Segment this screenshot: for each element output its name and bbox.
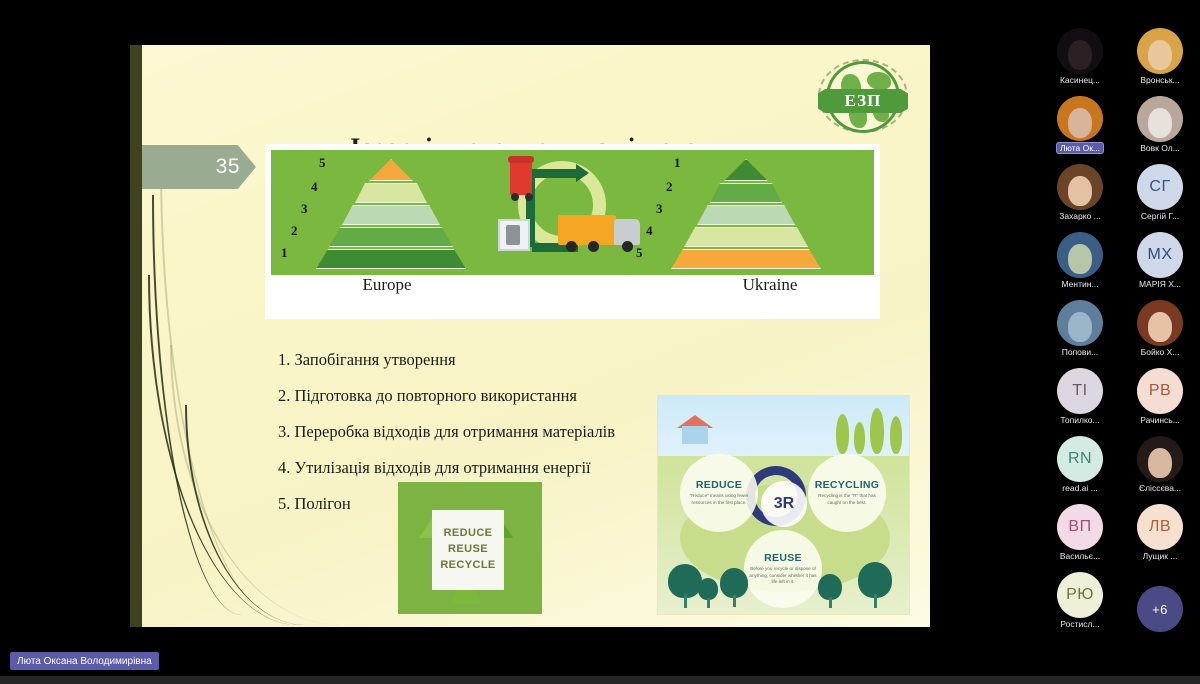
overflow-avatar[interactable]: +6 (1137, 586, 1183, 632)
participant-tile[interactable]: Вовк Ол... (1120, 96, 1200, 154)
slide-left-accent-bar (130, 45, 142, 627)
reduce-description: "Reduce" means using fewer resources in … (684, 493, 754, 507)
participant-name: Вовк Ол... (1140, 143, 1180, 153)
participant-tile[interactable]: Бойко Х... (1120, 300, 1200, 358)
participant-tile[interactable]: Люта Ок... (1040, 96, 1120, 154)
europe-level-label: 4 (311, 179, 318, 195)
participant-tile[interactable]: СГСергій Г... (1120, 164, 1200, 222)
participant-name: read.ai ... (1062, 483, 1097, 493)
recycling-description: Recycling is the "R" that has caught on … (812, 493, 882, 507)
tree-icon (870, 408, 884, 454)
avatar-face (1068, 312, 1092, 342)
photo-avatar[interactable] (1137, 436, 1183, 482)
red-bin-icon (510, 161, 532, 195)
participant-tile[interactable]: Вронськ... (1120, 28, 1200, 86)
europe-level-label: 1 (281, 245, 288, 261)
participant-tile[interactable]: РВРачинсь... (1120, 368, 1200, 426)
europe-caption: Europe (287, 275, 487, 295)
initials-avatar[interactable]: МХ (1137, 232, 1183, 278)
recycle-line-1: REDUCE (444, 526, 493, 542)
slide-number-badge: 35 (142, 145, 256, 189)
participant-strip[interactable]: Касинец...Вронськ...Люта Ок...Вовк Ол...… (1040, 0, 1200, 684)
shared-screen-stage[interactable]: 35 Ієрархія поводження з відходами ЕЗП (0, 0, 1040, 684)
participant-grid: Касинец...Вронськ...Люта Ок...Вовк Ол...… (1040, 28, 1200, 630)
house-icon (682, 426, 708, 444)
participant-name: МАРІЯ Х... (1139, 279, 1181, 289)
participant-name: Захарко ... (1059, 211, 1100, 221)
window-bottom-bar (0, 676, 1200, 684)
ukraine-level-label: 1 (674, 155, 681, 171)
participant-tile[interactable]: Попови... (1040, 300, 1120, 358)
participant-tile[interactable]: РЮРостисл... (1040, 572, 1120, 630)
avatar-face (1148, 448, 1172, 478)
ukraine-level-label: 3 (656, 201, 663, 217)
avatar-face (1068, 108, 1092, 138)
garbage-truck-icon (558, 215, 616, 245)
avatar-face (1068, 244, 1092, 274)
initials-avatar[interactable]: RN (1057, 436, 1103, 482)
participant-tile[interactable]: Єліссєва... (1120, 436, 1200, 494)
tree-icon (854, 422, 865, 454)
europe-level-label: 5 (319, 155, 326, 171)
reduce-title: REDUCE (696, 479, 742, 491)
participant-name: Топилко... (1060, 415, 1099, 425)
photo-avatar[interactable] (1057, 28, 1103, 74)
participant-name: Вронськ... (1140, 75, 1179, 85)
initials-avatar[interactable]: ЛВ (1137, 504, 1183, 550)
avatar-face (1148, 40, 1172, 70)
presentation-slide[interactable]: 35 Ієрархія поводження з відходами ЕЗП (130, 45, 930, 627)
waste-hierarchy-figure: 5 4 3 2 1 (265, 144, 880, 319)
reuse-blob: REUSE Before you recycle or dispose of a… (744, 530, 822, 608)
europe-level-label: 3 (301, 201, 308, 217)
initials-avatar[interactable]: ТІ (1057, 368, 1103, 414)
trash-glyph-icon (506, 225, 520, 245)
ezp-logo-icon: ЕЗП (816, 59, 912, 135)
recycling-title: RECYCLING (815, 479, 880, 491)
photo-avatar[interactable] (1057, 232, 1103, 278)
ukraine-pyramid: 1 2 3 4 5 (656, 157, 836, 269)
participant-name: Рачинсь... (1140, 415, 1180, 425)
overflow-count: +6 (1152, 602, 1168, 617)
bin-lid-icon (508, 156, 534, 163)
reduce-blob: REDUCE "Reduce" means using fewer resour… (680, 454, 758, 532)
recycle-line-3: RECYCLE (440, 558, 495, 574)
tree-icon (836, 414, 849, 454)
ukraine-level-label: 2 (666, 179, 673, 195)
three-r-center-label: 3R (761, 481, 807, 527)
active-speaker-name: Люта Оксана Володимирівна (17, 656, 152, 667)
participant-overflow-tile[interactable]: +6 (1120, 586, 1200, 644)
participant-tile[interactable]: RNread.ai ... (1040, 436, 1120, 494)
recycle-label-card: REDUCE REUSE RECYCLE (432, 510, 504, 590)
participant-tile[interactable]: ВПВасильє... (1040, 504, 1120, 562)
participant-name: Ростисл... (1060, 619, 1099, 629)
photo-avatar[interactable] (1057, 300, 1103, 346)
initials-avatar[interactable]: РЮ (1057, 572, 1103, 618)
participant-name: Лущик ... (1143, 551, 1178, 561)
participant-tile[interactable]: ЛВЛущик ... (1120, 504, 1200, 562)
ukraine-caption: Ukraine (670, 275, 870, 295)
participant-tile[interactable]: Касинец... (1040, 28, 1120, 86)
participant-name: Ментин... (1061, 279, 1098, 289)
figure-green-background: 5 4 3 2 1 (271, 150, 874, 275)
list-item: 3. Переробка відходів для отримання мате… (278, 422, 708, 442)
participant-name: Попови... (1062, 347, 1099, 357)
participant-name: Люта Ок... (1056, 142, 1104, 154)
active-speaker-name-chip: Люта Оксана Володимирівна (10, 652, 159, 670)
three-r-infographic: 3R REDUCE "Reduce" means using fewer res… (657, 395, 910, 615)
logo-ribbon: ЕЗП (818, 89, 908, 113)
europe-pyramid: 5 4 3 2 1 (301, 157, 481, 269)
video-conference-window: 35 Ієрархія поводження з відходами ЕЗП (0, 0, 1200, 684)
photo-avatar[interactable] (1137, 300, 1183, 346)
tree-icon (890, 416, 902, 454)
participant-name: Бойко Х... (1141, 347, 1180, 357)
ukraine-level-label: 4 (646, 223, 653, 239)
participant-tile[interactable]: МХМАРІЯ Х... (1120, 232, 1200, 290)
initials-avatar[interactable]: СГ (1137, 164, 1183, 210)
recycling-blob: RECYCLING Recycling is the "R" that has … (808, 454, 886, 532)
avatar-face (1148, 108, 1172, 138)
participant-tile[interactable]: ТІТопилко... (1040, 368, 1120, 426)
participant-tile[interactable]: Захарко ... (1040, 164, 1120, 222)
initials-avatar[interactable]: РВ (1137, 368, 1183, 414)
avatar-face (1148, 312, 1172, 342)
participant-name: Єліссєва... (1139, 483, 1181, 493)
participant-tile[interactable]: Ментин... (1040, 232, 1120, 290)
europe-level-label: 2 (291, 223, 298, 239)
participant-name: Васильє... (1060, 551, 1100, 561)
slide-number-value: 35 (216, 155, 240, 179)
avatar-face (1068, 40, 1092, 70)
list-item: 2. Підготовка до повторного використання (278, 386, 708, 406)
photo-avatar[interactable] (1137, 96, 1183, 142)
participant-name: Сергій Г... (1141, 211, 1179, 221)
photo-avatar[interactable] (1057, 96, 1103, 141)
initials-avatar[interactable]: ВП (1057, 504, 1103, 550)
photo-avatar[interactable] (1137, 28, 1183, 74)
recycle-line-2: REUSE (448, 542, 488, 558)
list-item: 1. Запобігання утворення (278, 350, 708, 370)
reduce-reuse-recycle-image: REDUCE REUSE RECYCLE (398, 482, 542, 614)
photo-avatar[interactable] (1057, 164, 1103, 210)
ukraine-level-label: 5 (636, 245, 643, 261)
avatar-face (1068, 176, 1092, 206)
reuse-description: Before you recycle or dispose of anythin… (748, 566, 818, 587)
reuse-title: REUSE (764, 552, 802, 564)
list-item: 4. Утилізація відходів для отримання ене… (278, 458, 708, 478)
participant-name: Касинец... (1060, 75, 1100, 85)
